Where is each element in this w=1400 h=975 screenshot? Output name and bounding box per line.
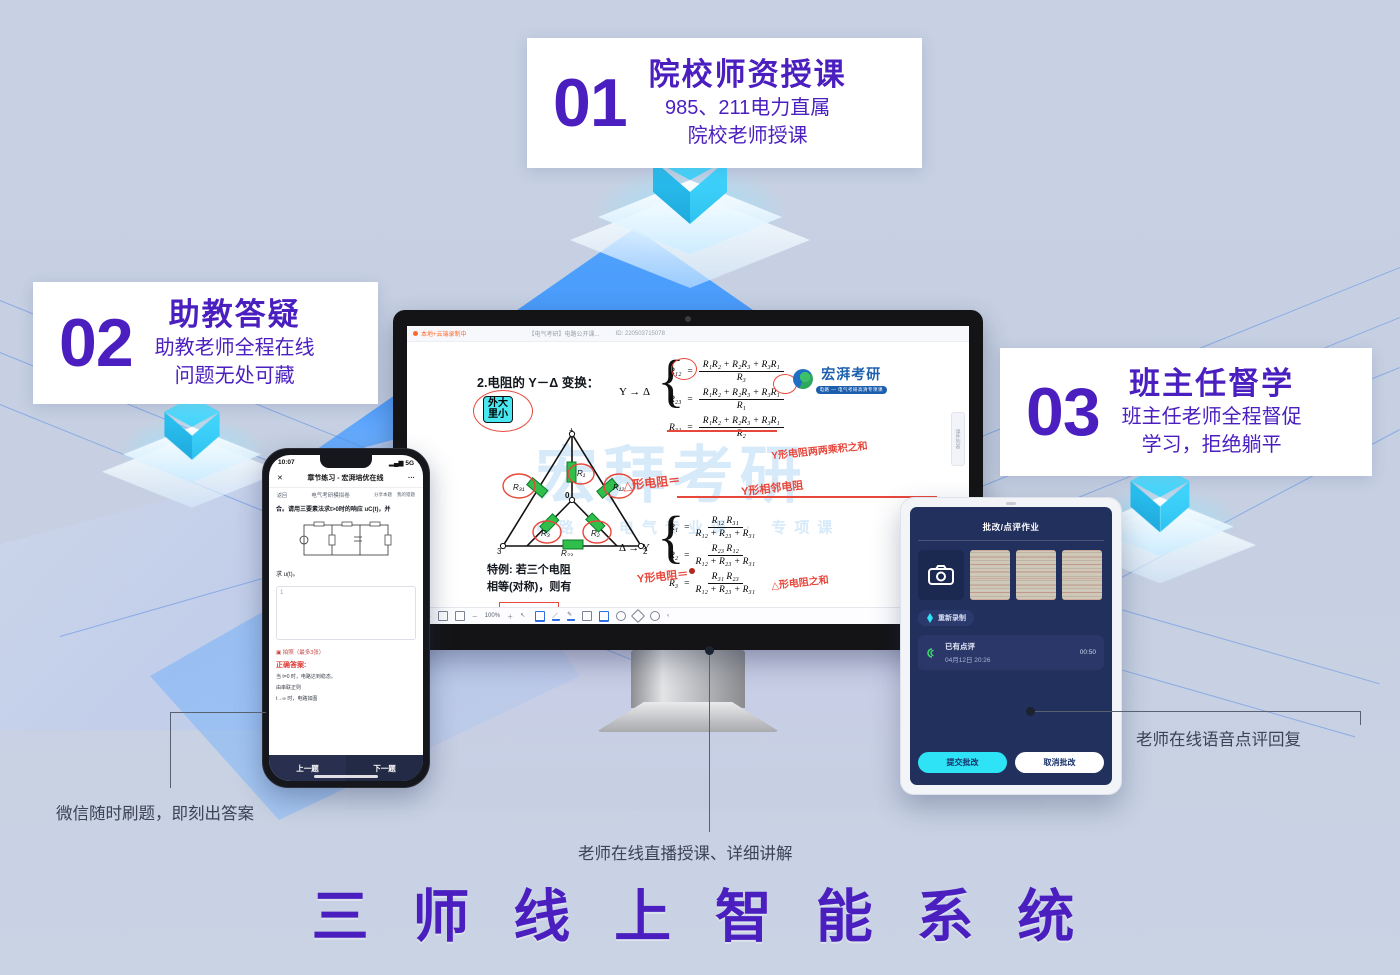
callout-line-monitor <box>709 650 710 832</box>
tablet-screen: 批改/点评作业 重新录制 <box>910 507 1112 785</box>
feature-sub-line2: 学习，拒绝躺平 <box>1142 433 1282 458</box>
svg-text:R₂₃: R₂₃ <box>561 549 573 556</box>
share-icon[interactable]: 分享本题 <box>374 492 392 498</box>
phone-circuit-figure <box>292 519 400 563</box>
tablet-photo-row <box>918 550 1104 600</box>
desktop-monitor: 本地+云端录制中 【电气考研】电路公开课... ID: 220503715078… <box>393 310 983 650</box>
callout-dot-monitor <box>705 646 714 655</box>
transform-label-y-to-delta: Y → Δ <box>619 386 650 398</box>
lecture-whiteboard[interactable]: 宏拜考研 电路 · 电气专业课 · 专项课 2.电阻的 Y－Δ 变换： 外大 里… <box>407 342 969 609</box>
lecture-title: 【电气考研】电路公开课... <box>529 329 600 338</box>
svg-text:R₂: R₂ <box>591 529 600 538</box>
phone-question-text: 合。请用三要素法求t>0时的响应 uC(t)，并 <box>269 502 423 515</box>
more-icon[interactable]: ··· <box>408 475 415 482</box>
eraser-tool-icon[interactable] <box>616 611 626 621</box>
phone-screen: 10:07 ▂▄▆ 5G ✕ 章节练习 - 宏湃培优在线 ··· 返回 电气考研… <box>269 455 423 781</box>
feature-sub-line1: 助教老师全程在线 <box>155 336 315 361</box>
feature-title: 班主任督学 <box>1129 366 1294 402</box>
homework-thumbnail[interactable] <box>970 550 1010 600</box>
brand-name: 宏湃考研 <box>821 364 881 384</box>
take-photo-button[interactable] <box>918 550 964 600</box>
callout-line-tablet-vertical <box>1360 711 1361 725</box>
red-underline-1 <box>677 496 937 498</box>
mic-icon <box>926 613 934 623</box>
smartphone-device: 10:07 ▂▄▆ 5G ✕ 章节练习 - 宏湃培优在线 ··· 返回 电气考研… <box>262 448 430 788</box>
special-case-l1: 特例: 若三个电阻 <box>487 562 571 579</box>
pen-tool-icon[interactable]: ✎ <box>567 611 575 621</box>
phone-answer-input[interactable]: 1 <box>276 586 416 640</box>
phone-correct-answer-title: 正确答案: <box>269 658 423 672</box>
svg-text:R₁: R₁ <box>577 469 586 478</box>
svg-text:3: 3 <box>497 547 502 556</box>
svg-text:R₃: R₃ <box>541 529 550 538</box>
brand-tagline: 电路 — 电气考研高清专项课 <box>816 386 888 394</box>
monitor-stand-neck <box>631 650 745 708</box>
equation-row: R₃₁= R₁R₂ + R₂R₃ + R₃R₁R₂ <box>669 416 944 439</box>
courseware-list-tab[interactable]: 课件列表 <box>951 412 965 466</box>
phone-upload-meta: ▣ 拍照（最多3张） <box>269 646 423 658</box>
phone-question-ask: 求 u(t)。 <box>269 567 423 580</box>
tablet-page-title: 批改/点评作业 <box>918 515 1104 541</box>
zoom-level: 100% <box>485 613 500 619</box>
feature-sub-line2: 院校老师授课 <box>688 124 808 149</box>
recording-dot-icon <box>413 331 418 336</box>
whiteboard-content: 2.电阻的 Y－Δ 变换： 外大 里小 <box>441 346 931 609</box>
cursor-tool-icon[interactable]: ↖ <box>520 612 528 620</box>
fill-tool-icon[interactable] <box>631 609 645 623</box>
zoom-out-button[interactable]: － <box>472 612 478 621</box>
board-section-title: 2.电阻的 Y－Δ 变换： <box>477 372 599 391</box>
brand-logo: 宏湃考研 电路 — 电气考研高清专项课 <box>793 364 888 394</box>
tablet-camera-icon <box>1006 502 1016 505</box>
feature-number: 03 <box>1026 378 1100 446</box>
phone-answer-line-3: t→∞ 时，电路如图 <box>269 694 423 705</box>
wrongbook-icon[interactable]: 我的错题 <box>397 492 415 498</box>
collapse-toolbar-icon[interactable]: ‹ <box>667 613 669 619</box>
phone-subbar: 返回 电气考研模拟卷 分享本题 我的错题 <box>269 488 423 502</box>
audio-wave-icon <box>926 647 938 659</box>
svg-text:R₃₁: R₃₁ <box>513 483 525 492</box>
phone-nav-bar: ✕ 章节练习 - 宏湃培优在线 ··· <box>269 470 423 488</box>
svg-text:1: 1 <box>569 428 574 433</box>
board-special-case: 特例: 若三个电阻 相等(对称)，则有 <box>487 562 571 595</box>
homework-thumbnail[interactable] <box>1062 550 1102 600</box>
poster-stage: 本地+云端录制中 【电气考研】电路公开课... ID: 220503715078… <box>0 0 1400 975</box>
feature-card-01: 01 院校师资授课 985、211电力直属 院校老师授课 <box>527 38 922 168</box>
feature-sub-line2: 问题无处可藏 <box>175 364 295 389</box>
line-tool-icon[interactable]: ／ <box>552 611 560 621</box>
phone-notch <box>320 455 372 468</box>
close-icon[interactable]: ✕ <box>277 474 283 482</box>
feature-number: 01 <box>553 69 627 137</box>
audio-duration: 00:50 <box>1080 649 1096 656</box>
phone-exam-name: 电气考研模拟卷 <box>311 491 350 499</box>
handwriting-dot <box>689 568 695 574</box>
feature-title: 助教答疑 <box>169 297 301 333</box>
phone-page-title: 章节练习 - 宏湃培优在线 <box>307 473 383 483</box>
phone-home-indicator <box>314 775 378 778</box>
audio-date: 04月12日 20:26 <box>945 654 1073 664</box>
callout-dot-tablet <box>1026 707 1035 716</box>
audio-status: 已有点评 <box>945 641 1073 652</box>
callout-line-phone-horizontal <box>170 712 266 713</box>
share-back-icon[interactable]: 返回 <box>277 492 287 499</box>
feature-card-02: 02 助教答疑 助教老师全程在线 问题无处可藏 <box>33 282 378 404</box>
callout-line-tablet-horizontal <box>1030 711 1360 712</box>
feature-number: 02 <box>59 309 133 377</box>
feature-sub-line1: 985、211电力直属 <box>665 96 830 121</box>
audio-comment-card[interactable]: 已有点评 04月12日 20:26 00:50 <box>918 635 1104 670</box>
callout-phone: 微信随时刷题，即刻出答案 <box>56 800 254 824</box>
shape-tool-icon[interactable] <box>582 611 592 621</box>
settings-tool-icon[interactable] <box>650 611 660 621</box>
phone-answer-line-1: 当 t=0 时，电路达到稳态。 <box>269 672 423 683</box>
text-tool-icon[interactable] <box>599 611 609 622</box>
lecture-room-id: ID: 220503715078 <box>616 331 665 337</box>
page-title: 三 师 线 上 智 能 系 统 <box>0 871 1400 953</box>
monitor-webcam-icon <box>685 316 691 322</box>
fit-screen-icon[interactable] <box>438 611 448 621</box>
camera-icon <box>928 565 954 585</box>
callout-line-phone-vertical <box>170 712 171 788</box>
phone-answer-line-2: 由串联正则 <box>269 683 423 694</box>
grid-view-icon[interactable] <box>455 611 465 621</box>
re-record-button[interactable]: 重新录制 <box>918 610 974 626</box>
tablet-device: 批改/点评作业 重新录制 <box>900 497 1122 795</box>
tablet-action-row: 提交批改 取消批改 <box>918 752 1104 777</box>
phone-sub-actions[interactable]: 分享本题 我的错题 <box>374 492 415 498</box>
monitor-screen: 本地+云端录制中 【电气考研】电路公开课... ID: 220503715078… <box>407 326 969 624</box>
status-signal: ▂▄▆ 5G <box>389 459 414 467</box>
re-record-label: 重新录制 <box>938 613 966 623</box>
callout-tablet: 老师在线语音点评回复 <box>1136 726 1301 750</box>
feature-title: 院校师资授课 <box>649 57 847 93</box>
red-annotation-circle-r12 <box>671 358 697 380</box>
cancel-review-button[interactable]: 取消批改 <box>1015 752 1104 773</box>
lecture-topbar: 本地+云端录制中 【电气考研】电路公开课... ID: 220503715078 <box>407 326 969 342</box>
status-time: 10:07 <box>278 459 295 466</box>
feature-sub-line1: 班主任老师全程督促 <box>1122 405 1302 430</box>
callout-monitor: 老师在线直播授课、详细讲解 <box>578 840 793 864</box>
special-case-l2: 相等(对称)，则有 <box>487 579 571 596</box>
audio-meta: 已有点评 04月12日 20:26 <box>945 641 1073 664</box>
recording-status: 本地+云端录制中 <box>413 329 467 338</box>
feature-card-03: 03 班主任督学 班主任老师全程督促 学习，拒绝躺平 <box>1000 348 1372 476</box>
zoom-in-button[interactable]: ＋ <box>507 612 513 621</box>
homework-thumbnail[interactable] <box>1016 550 1056 600</box>
brand-swoosh-icon <box>793 369 813 389</box>
red-annotation-circle-tag <box>473 390 533 432</box>
red-underline-2 <box>667 430 777 432</box>
monitor-bezel: 本地+云端录制中 【电气考研】电路公开课... ID: 220503715078… <box>393 310 983 650</box>
submit-review-button[interactable]: 提交批改 <box>918 752 1007 773</box>
svg-text:0: 0 <box>565 491 570 500</box>
transform-label-delta-to-y: Δ → Y <box>619 542 650 554</box>
lecture-toolbar[interactable]: 9 /41 － 100% ＋ ↖ ／ ✎ ‹ <box>407 607 969 624</box>
select-tool-icon[interactable] <box>535 611 545 622</box>
